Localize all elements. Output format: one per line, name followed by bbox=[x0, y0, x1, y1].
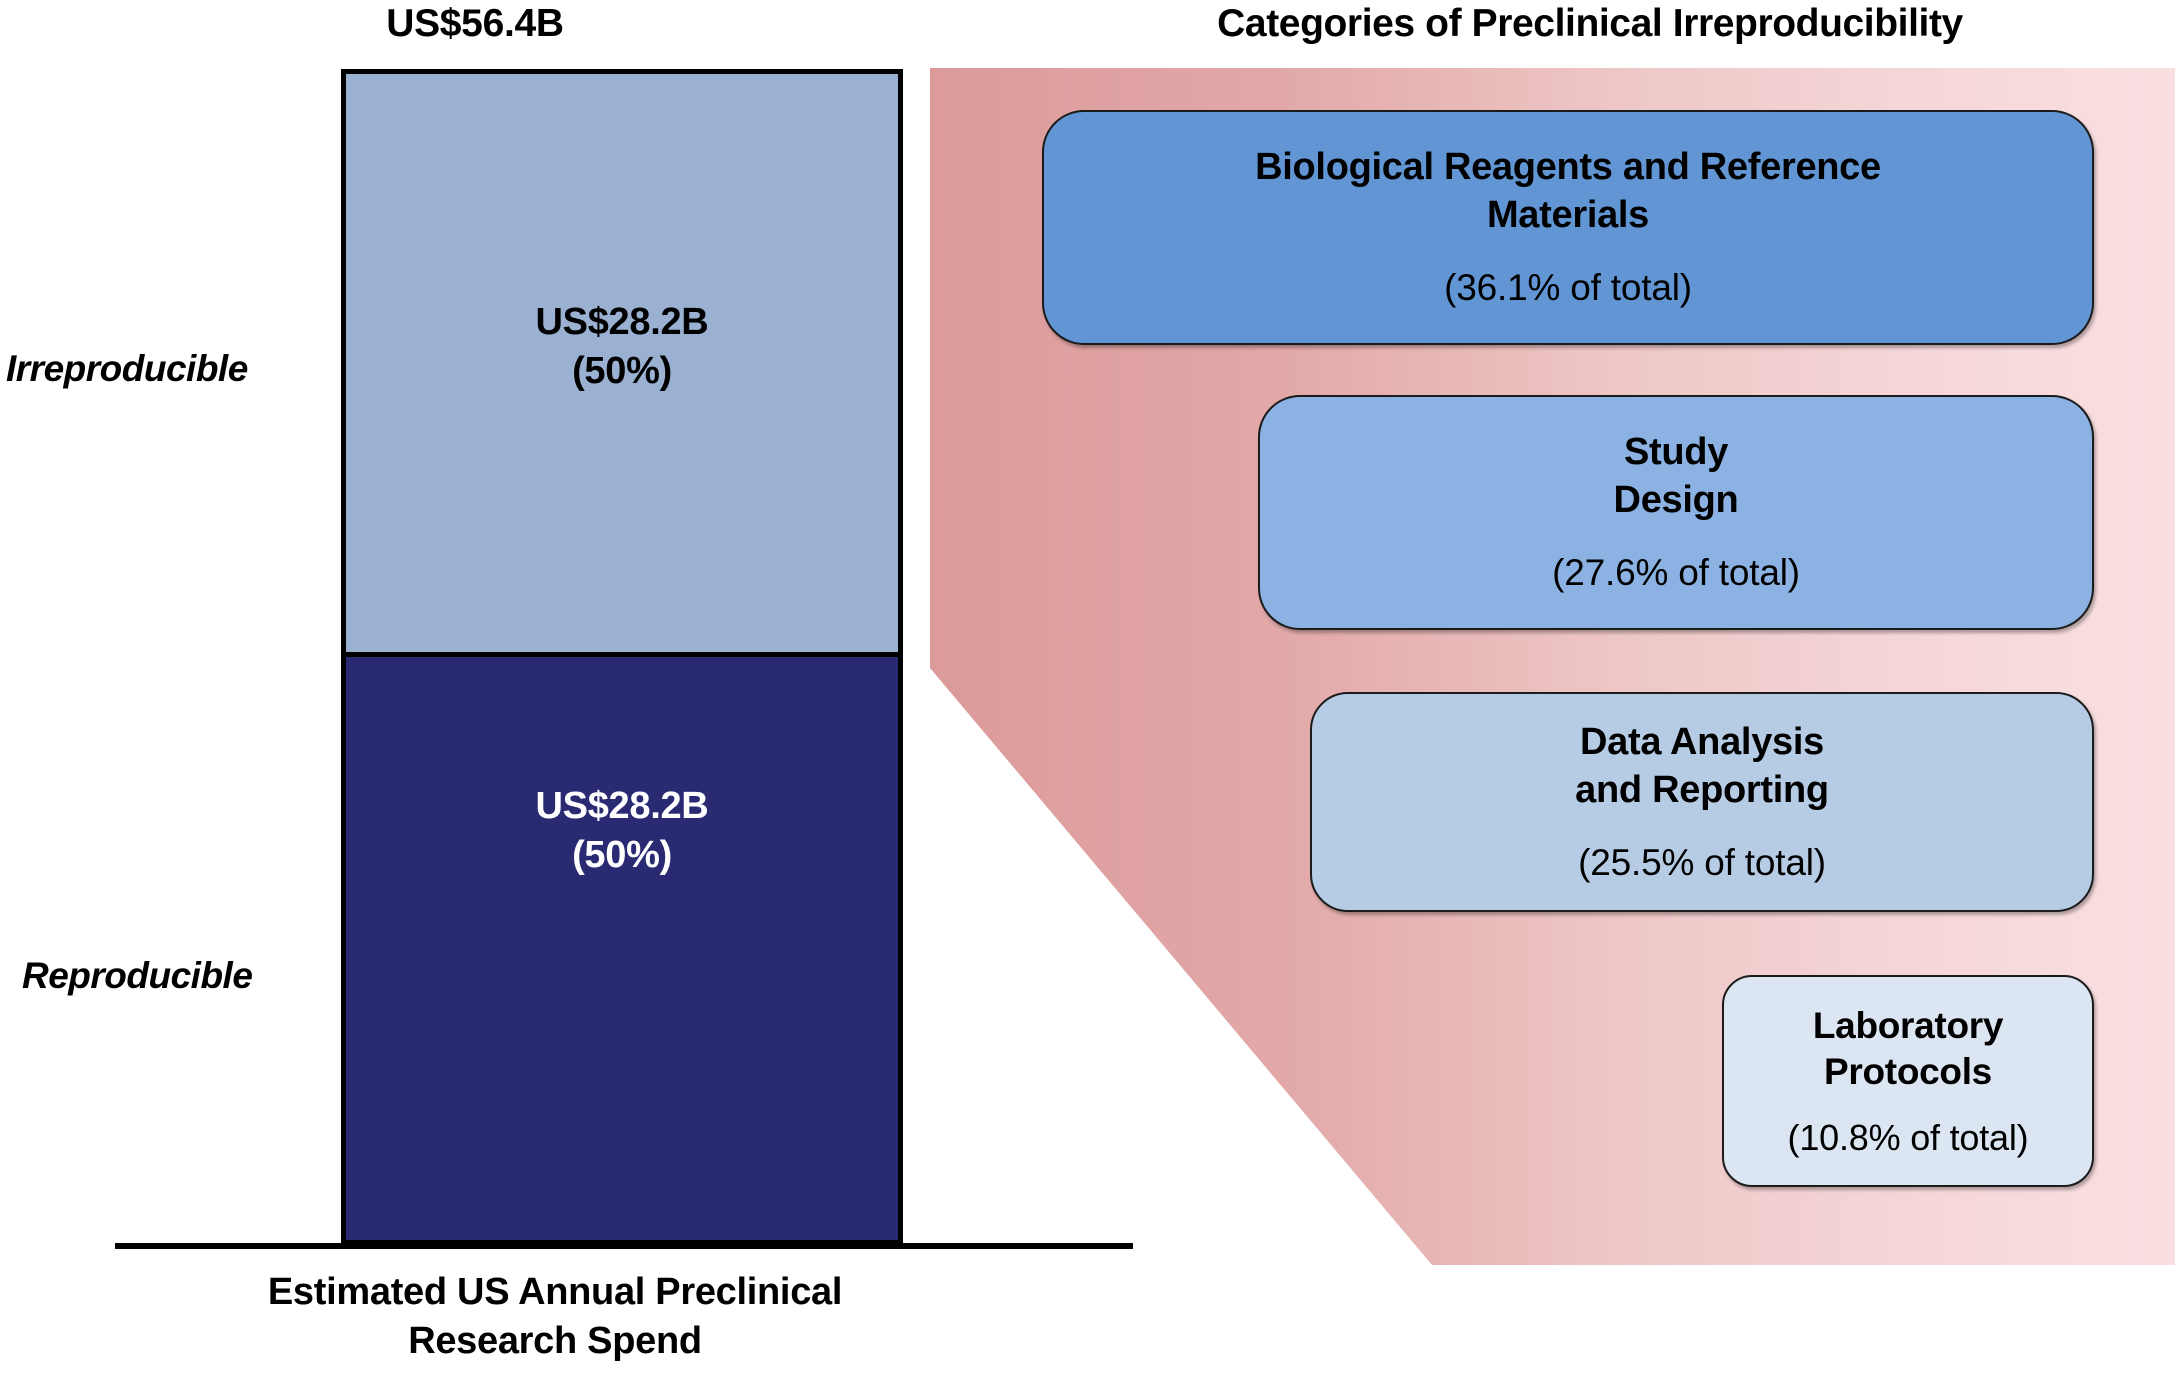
category-box-4-name-line2: Protocols bbox=[1824, 1051, 1992, 1092]
bar-segment-irreproducible-percent: (50%) bbox=[536, 347, 709, 396]
category-box-3-name-line2: and Reporting bbox=[1575, 769, 1829, 811]
bar-total-label: US$56.4B bbox=[280, 2, 670, 46]
category-box-1-percent: (36.1% of total) bbox=[1444, 266, 1692, 310]
category-box-2-name-line2: Design bbox=[1614, 479, 1739, 521]
category-box-2-name-line1: Study bbox=[1624, 431, 1728, 473]
category-box-3-name: Data Analysis and Reporting bbox=[1575, 719, 1829, 815]
category-box-4-name: Laboratory Protocols bbox=[1813, 1003, 2003, 1096]
bar-segment-reproducible-amount: US$28.2B bbox=[536, 782, 709, 831]
x-axis-line bbox=[115, 1243, 1133, 1249]
x-axis-caption: Estimated US Annual Preclinical Research… bbox=[190, 1268, 920, 1367]
category-box-1-name: Biological Reagents and Reference Materi… bbox=[1255, 144, 1881, 240]
category-box-laboratory-protocols: Laboratory Protocols (10.8% of total) bbox=[1722, 975, 2094, 1187]
category-box-2-percent: (27.6% of total) bbox=[1552, 551, 1800, 595]
category-box-3-percent: (25.5% of total) bbox=[1578, 841, 1826, 885]
category-box-2-name: Study Design bbox=[1614, 429, 1739, 525]
category-box-3-name-line1: Data Analysis bbox=[1580, 721, 1824, 763]
axis-label-reproducible: Reproducible bbox=[22, 955, 252, 997]
category-box-data-analysis: Data Analysis and Reporting (25.5% of to… bbox=[1310, 692, 2094, 912]
bar-segment-reproducible: US$28.2B (50%) bbox=[346, 657, 898, 1240]
category-box-4-name-line1: Laboratory bbox=[1813, 1005, 2003, 1046]
bar-segment-irreproducible-amount: US$28.2B bbox=[536, 298, 709, 347]
category-box-1-name-line1: Biological Reagents and Reference bbox=[1255, 146, 1881, 188]
bar-segment-reproducible-percent: (50%) bbox=[536, 831, 709, 880]
bar-segment-irreproducible: US$28.2B (50%) bbox=[346, 74, 898, 657]
right-panel-title: Categories of Preclinical Irreproducibil… bbox=[1020, 2, 2160, 46]
category-box-4-percent: (10.8% of total) bbox=[1788, 1116, 2029, 1159]
category-box-biological-reagents: Biological Reagents and Reference Materi… bbox=[1042, 110, 2094, 345]
axis-label-irreproducible: Irreproducible bbox=[6, 348, 248, 390]
figure-root: US$56.4B Irreproducible Reproducible US$… bbox=[0, 0, 2175, 1388]
stacked-bar: US$28.2B (50%) US$28.2B (50%) bbox=[341, 69, 903, 1245]
category-box-study-design: Study Design (27.6% of total) bbox=[1258, 395, 2094, 630]
category-box-1-name-line2: Materials bbox=[1487, 194, 1649, 236]
